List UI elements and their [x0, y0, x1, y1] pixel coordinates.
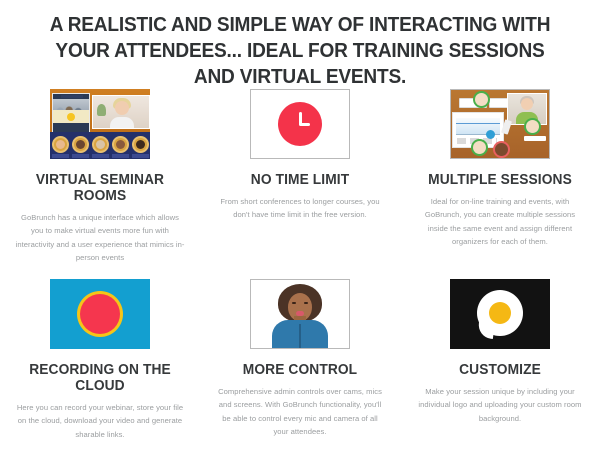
thumbnail-wrapper [214, 88, 386, 160]
avatar [524, 118, 541, 135]
clock-icon [250, 89, 350, 159]
attendee-seat [112, 136, 129, 158]
avatar [56, 140, 65, 149]
card-title: MULTIPLE SESSIONS [418, 172, 581, 188]
gobrunch-logo-icon [450, 279, 550, 349]
thumbnail-wrapper [214, 278, 386, 350]
attendee-seat [92, 136, 109, 158]
avatar [76, 140, 85, 149]
person-eye-right [304, 302, 308, 304]
chart-line [456, 123, 500, 124]
avatar-inner [495, 143, 508, 156]
thumbnail-wrapper [14, 88, 186, 160]
avatar [493, 141, 510, 158]
attendee-name-bar [72, 154, 89, 158]
avatar-inner [526, 120, 539, 133]
card-title: RECORDING ON THE CLOUD [18, 362, 181, 394]
card-body: Comprehensive admin controls over cams, … [214, 385, 386, 439]
attendee-name-bar [132, 154, 149, 158]
avatar [471, 139, 488, 156]
thumbnail-wrapper [414, 278, 586, 350]
card-body: Here you can record your webinar, store … [14, 401, 186, 441]
speaker-face [115, 101, 129, 115]
feature-card-recording-on-the-cloud[interactable]: RECORDING ON THE CLOUD Here you can reco… [0, 278, 200, 468]
person-eye-left [292, 302, 296, 304]
plant-decoration [97, 104, 106, 116]
feature-card-more-control[interactable]: MORE CONTROL Comprehensive admin control… [200, 278, 400, 468]
egg-yolk [489, 302, 511, 324]
attendee-seat [72, 136, 89, 158]
attendee-seat [132, 136, 149, 158]
avatar [96, 140, 105, 149]
feature-card-virtual-seminar-rooms[interactable]: VIRTUAL SEMINAR ROOMS GoBrunch has a uni… [0, 88, 200, 278]
globe-icon [486, 130, 495, 139]
thumbnail-wrapper [14, 278, 186, 350]
attendee-name-bar [92, 154, 109, 158]
avatar [473, 91, 490, 108]
portrait-photo [250, 279, 350, 349]
video-conference-room-thumbnail [50, 89, 150, 159]
feature-grid: VIRTUAL SEMINAR ROOMS GoBrunch has a uni… [0, 88, 600, 468]
record-button-icon [50, 279, 150, 349]
attendee-name-bar [524, 136, 546, 141]
clock-face [278, 102, 322, 146]
presentation-screen [52, 93, 90, 133]
card-body: Make your session unique by including yo… [414, 385, 586, 425]
attendee-name-bar [52, 154, 69, 158]
thumbnail-wrapper [414, 88, 586, 160]
feature-card-customize[interactable]: CUSTOMIZE Make your session unique by in… [400, 278, 600, 468]
avatar-inner [473, 141, 486, 154]
feature-card-multiple-sessions[interactable]: MULTIPLE SESSIONS Ideal for on-line trai… [400, 88, 600, 278]
feature-card-no-time-limit[interactable]: NO TIME LIMIT From short conferences to … [200, 88, 400, 278]
webcam-feed [92, 95, 150, 129]
card-title: CUSTOMIZE [418, 362, 581, 378]
attendee-name-bar [112, 154, 129, 158]
multiple-sessions-thumbnail [450, 89, 550, 159]
speaker-body [110, 117, 134, 128]
attendee-seats [50, 134, 150, 158]
card-body: From short conferences to longer courses… [214, 195, 386, 222]
clock-hour-hand [299, 123, 310, 126]
page-title: A REALISTIC AND SIMPLE WAY OF INTERACTIN… [21, 0, 579, 90]
card-body: Ideal for on-line training and events, w… [414, 195, 586, 249]
avatar [116, 140, 125, 149]
lightbulb-icon [67, 113, 75, 121]
speaker-face [521, 98, 533, 110]
card-title: MORE CONTROL [218, 362, 381, 378]
avatar [136, 140, 145, 149]
attendee-seat [52, 136, 69, 158]
avatar-inner [475, 93, 488, 106]
card-title: VIRTUAL SEMINAR ROOMS [18, 172, 181, 204]
shirt-placket [299, 324, 301, 348]
record-dot [80, 294, 120, 334]
screen-header-bar [61, 95, 83, 98]
session-room [451, 90, 549, 158]
feature-section: A REALISTIC AND SIMPLE WAY OF INTERACTIN… [0, 0, 600, 463]
card-body: GoBrunch has a unique interface which al… [14, 211, 186, 265]
card-title: NO TIME LIMIT [218, 172, 381, 188]
